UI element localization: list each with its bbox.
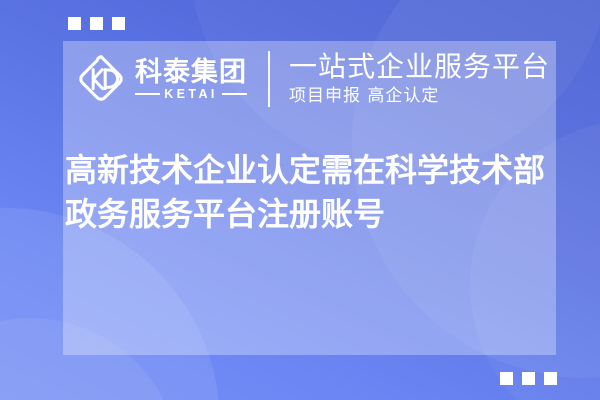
logo-latin-name: KETAI [164, 88, 218, 101]
logo-latin-row: KETAI [135, 88, 247, 101]
brand-row: 科泰集团 KETAI 一站式企业服务平台 项目申报 高企认定 [75, 48, 550, 110]
content-card: 科泰集团 KETAI 一站式企业服务平台 项目申报 高企认定 高新技术企业认定需… [63, 41, 556, 355]
tagline-secondary: 项目申报 高企认定 [289, 85, 550, 107]
logo-company-name: 科泰集团 [135, 58, 247, 87]
square-icon [68, 17, 81, 30]
decorative-squares-bottom-right [500, 372, 557, 385]
promo-banner: 科泰集团 KETAI 一站式企业服务平台 项目申报 高企认定 高新技术企业认定需… [0, 0, 600, 400]
ketai-diamond-kd-logo-icon [75, 53, 127, 105]
square-icon [112, 17, 125, 30]
headline-text: 高新技术企业认定需在科学技术部政务服务平台注册账号 [65, 148, 570, 236]
decorative-squares-top-left [68, 17, 125, 30]
tagline-primary: 一站式企业服务平台 [289, 51, 550, 83]
ketai-logo[interactable]: 科泰集团 KETAI [75, 53, 247, 105]
logo-wordmark: 科泰集团 KETAI [135, 58, 247, 101]
square-icon [544, 372, 557, 385]
logo-rule-left [135, 93, 160, 96]
tagline-block: 一站式企业服务平台 项目申报 高企认定 [289, 51, 550, 107]
square-icon [522, 372, 535, 385]
square-icon [500, 372, 513, 385]
square-icon [90, 17, 103, 30]
logo-rule-right [222, 93, 247, 96]
brand-divider [268, 51, 270, 107]
